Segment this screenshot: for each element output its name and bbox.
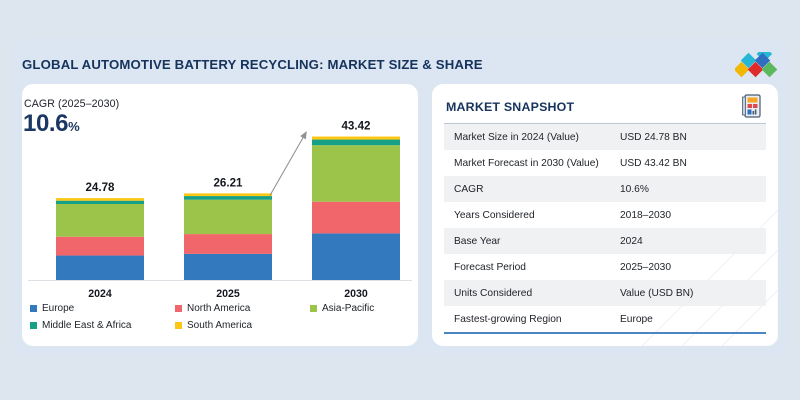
x-axis-label-2030: 2030 (344, 288, 368, 300)
table-cell-value: 2025–2030 (620, 262, 766, 273)
table-cell-value: Value (USD BN) (620, 288, 766, 299)
table-cell-key: Market Forecast in 2030 (Value) (444, 158, 620, 169)
legend-item-south-america[interactable]: South America (175, 320, 310, 331)
table-cell-value: 2018–2030 (620, 210, 766, 221)
legend-row-2: Middle East & Africa South America (30, 317, 410, 334)
bar-segment-2024-middle-east-africa (56, 201, 144, 204)
bar-segment-2030-south-america (312, 137, 400, 140)
bar-segment-2030-north-america (312, 202, 400, 234)
bar-segment-2025-south-america (184, 193, 272, 196)
legend-swatch-south-america (175, 322, 182, 329)
table-row: Forecast Period2025–2030 (444, 254, 766, 280)
bar-segment-2024-asia-pacific (56, 204, 144, 237)
bar-segment-2025-middle-east-africa (184, 196, 272, 200)
table-row: Years Considered2018–2030 (444, 202, 766, 228)
legend-label-europe: Europe (42, 303, 74, 314)
table-cell-value: Europe (620, 314, 766, 325)
growth-arrow-annotation (270, 133, 306, 196)
legend-swatch-asia-pacific (310, 305, 317, 312)
bar-segment-2024-south-america (56, 198, 144, 201)
bar-segment-2030-asia-pacific (312, 145, 400, 202)
market-snapshot-card: MARKET SNAPSHOT Market Size in 2024 (Val… (432, 84, 778, 346)
table-cell-key: Forecast Period (444, 262, 620, 273)
bar-segment-2030-middle-east-africa (312, 140, 400, 146)
legend-label-north-america: North America (187, 303, 250, 314)
table-cell-value: USD 43.42 BN (620, 158, 766, 169)
legend-label-asia-pacific: Asia-Pacific (322, 303, 374, 314)
legend-swatch-middle-east-africa (30, 322, 37, 329)
table-cell-value: USD 24.78 BN (620, 132, 766, 143)
table-cell-key: Units Considered (444, 288, 620, 299)
page-title: GLOBAL AUTOMOTIVE BATTERY RECYCLING: MAR… (22, 57, 483, 72)
bar-value-label-2024: 24.78 (85, 181, 115, 194)
x-axis-label-2025: 2025 (216, 288, 240, 300)
bar-segment-2025-north-america (184, 234, 272, 254)
table-row: CAGR10.6% (444, 176, 766, 202)
table-row: Market Forecast in 2030 (Value)USD 43.42… (444, 150, 766, 176)
legend-label-south-america: South America (187, 320, 252, 331)
table-row: Base Year2024 (444, 228, 766, 254)
bar-segment-2025-europe (184, 254, 272, 280)
legend-item-middle-east-africa[interactable]: Middle East & Africa (30, 320, 175, 331)
bar-value-label-2025: 26.21 (213, 176, 243, 189)
bar-segment-2024-north-america (56, 237, 144, 256)
chart-legend: Europe North America Asia-Pacific Middle… (30, 300, 410, 334)
snapshot-title: MARKET SNAPSHOT (446, 100, 574, 114)
legend-swatch-europe (30, 305, 37, 312)
bar-segment-2024-europe (56, 256, 144, 280)
legend-row-1: Europe North America Asia-Pacific (30, 300, 410, 317)
table-cell-key: Market Size in 2024 (Value) (444, 132, 620, 143)
legend-label-middle-east-africa: Middle East & Africa (42, 320, 131, 331)
bar-value-label-2030: 43.42 (341, 120, 370, 133)
bar-segment-2030-europe (312, 233, 400, 280)
table-cell-key: Years Considered (444, 210, 620, 221)
table-row: Fastest-growing RegionEurope (444, 306, 766, 332)
bar-segment-2025-asia-pacific (184, 200, 272, 234)
infographic-root: GLOBAL AUTOMOTIVE BATTERY RECYCLING: MAR… (0, 0, 800, 400)
snapshot-divider-bottom (444, 332, 766, 334)
table-cell-key: Base Year (444, 236, 620, 247)
table-cell-value: 2024 (620, 236, 766, 247)
table-cell-key: CAGR (444, 184, 620, 195)
table-cell-value: 10.6% (620, 184, 766, 195)
x-axis-label-2024: 2024 (88, 288, 112, 300)
legend-item-north-america[interactable]: North America (175, 303, 310, 314)
table-cell-key: Fastest-growing Region (444, 314, 620, 325)
diamond-grid-logo-icon (735, 52, 781, 80)
legend-item-asia-pacific[interactable]: Asia-Pacific (310, 303, 374, 314)
legend-item-europe[interactable]: Europe (30, 303, 175, 314)
report-clipboard-icon (741, 94, 764, 118)
legend-swatch-north-america (175, 305, 182, 312)
table-row: Units ConsideredValue (USD BN) (444, 280, 766, 306)
snapshot-table: Market Size in 2024 (Value)USD 24.78 BNM… (444, 124, 766, 332)
table-row: Market Size in 2024 (Value)USD 24.78 BN (444, 124, 766, 150)
